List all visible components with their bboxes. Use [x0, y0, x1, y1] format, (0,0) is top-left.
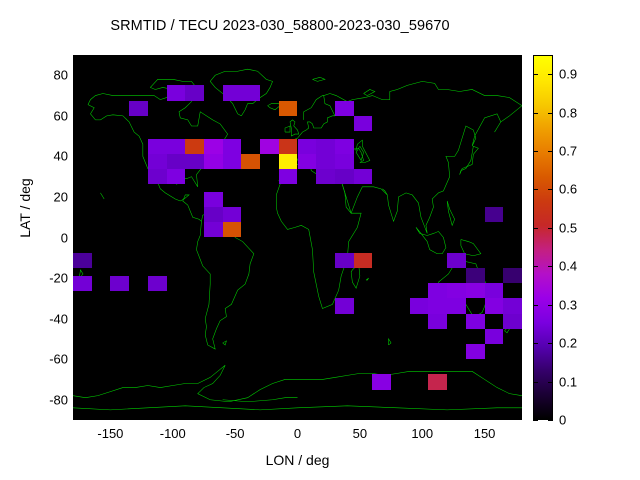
heatmap-cell — [279, 101, 298, 116]
heatmap-cell — [428, 298, 447, 313]
colorbar-tick-label: 0.5 — [559, 220, 577, 235]
x-tick-label: -150 — [80, 426, 140, 441]
heatmap-cell — [279, 169, 298, 184]
colorbar-tick-label: 0.6 — [559, 182, 577, 197]
colorbar-tick-mark — [548, 228, 553, 229]
colorbar-tick-mark — [533, 228, 538, 229]
heatmap-cell — [410, 298, 429, 313]
colorbar-tick-mark — [548, 343, 553, 344]
colorbar-tick-mark — [548, 113, 553, 114]
heatmap-cell — [167, 169, 186, 184]
y-tick-label: 0 — [28, 230, 68, 245]
colorbar-tick-mark — [548, 74, 553, 75]
heatmap-cell — [204, 139, 223, 154]
colorbar-ticks: 0.90.80.70.60.50.40.30.20.10 — [533, 55, 633, 420]
heatmap-cell — [223, 222, 242, 237]
heatmap-cell — [204, 154, 223, 169]
heatmap-cell — [503, 298, 522, 313]
colorbar-tick-mark — [533, 113, 538, 114]
heatmap-cell — [223, 85, 242, 100]
heatmap-cell — [167, 85, 186, 100]
heatmap-cell — [298, 154, 317, 169]
y-tick-label: 60 — [28, 108, 68, 123]
chart-title: SRMTID / TECU 2023-030_58800-2023-030_59… — [0, 18, 560, 34]
heatmap-cell — [428, 374, 447, 389]
colorbar-tick-mark — [548, 151, 553, 152]
colorbar-tick-mark — [533, 74, 538, 75]
heatmap-cell — [503, 268, 522, 283]
colorbar-tick-label: 0.4 — [559, 259, 577, 274]
heatmap-cell — [485, 207, 504, 222]
heatmap-cell — [279, 139, 298, 154]
colorbar-tick-label: 0.1 — [559, 374, 577, 389]
heatmap-cell — [503, 314, 522, 329]
heatmap-cell — [485, 283, 504, 298]
heatmap-cell — [316, 139, 335, 154]
heatmap-cells-layer — [73, 55, 522, 420]
colorbar-tick-label: 0.9 — [559, 67, 577, 82]
x-tick-label: 100 — [392, 426, 452, 441]
heatmap-cell — [466, 283, 485, 298]
heatmap-cell — [466, 344, 485, 359]
heatmap-cell — [316, 154, 335, 169]
heatmap-cell — [223, 154, 242, 169]
colorbar-tick-mark — [548, 189, 553, 190]
y-tick-label: -60 — [28, 352, 68, 367]
heatmap-cell — [466, 268, 485, 283]
heatmap-cell — [447, 253, 466, 268]
heatmap-cell — [335, 169, 354, 184]
heatmap-cell — [260, 139, 279, 154]
heatmap-cell — [167, 154, 186, 169]
heatmap-cell — [148, 139, 167, 154]
heatmap-cell — [185, 85, 204, 100]
map-plot-area — [73, 55, 522, 420]
y-tick-label: -40 — [28, 311, 68, 326]
heatmap-cell — [354, 169, 373, 184]
heatmap-cell — [185, 154, 204, 169]
heatmap-cell — [241, 85, 260, 100]
heatmap-cell — [167, 139, 186, 154]
heatmap-cell — [428, 314, 447, 329]
y-axis-label: LAT / deg — [17, 128, 33, 288]
heatmap-cell — [204, 192, 223, 207]
colorbar-tick-mark — [533, 420, 538, 421]
heatmap-cell — [298, 139, 317, 154]
heatmap-cell — [223, 207, 242, 222]
heatmap-cell — [316, 169, 335, 184]
colorbar-tick-mark — [533, 151, 538, 152]
colorbar-tick-mark — [548, 305, 553, 306]
colorbar-tick-mark — [548, 420, 553, 421]
heatmap-cell — [485, 298, 504, 313]
colorbar-tick-label: 0 — [559, 413, 566, 428]
heatmap-cell — [447, 298, 466, 313]
heatmap-cell — [73, 276, 92, 291]
heatmap-cell — [466, 314, 485, 329]
plot-figure: SRMTID / TECU 2023-030_58800-2023-030_59… — [0, 0, 640, 480]
x-tick-label: -50 — [205, 426, 265, 441]
colorbar-tick-label: 0.8 — [559, 105, 577, 120]
heatmap-cell — [148, 169, 167, 184]
heatmap-cell — [148, 276, 167, 291]
y-tick-label: 40 — [28, 149, 68, 164]
y-tick-label: -80 — [28, 392, 68, 407]
heatmap-cell — [129, 101, 148, 116]
heatmap-cell — [485, 329, 504, 344]
x-tick-label: -100 — [143, 426, 203, 441]
y-tick-label: -20 — [28, 271, 68, 286]
colorbar-tick-label: 0.3 — [559, 297, 577, 312]
heatmap-cell — [354, 253, 373, 268]
heatmap-cell — [185, 139, 204, 154]
heatmap-cell — [279, 154, 298, 169]
colorbar-tick-mark — [548, 382, 553, 383]
colorbar-tick-mark — [533, 305, 538, 306]
heatmap-cell — [447, 283, 466, 298]
colorbar-tick-mark — [533, 266, 538, 267]
x-axis-ticks: -150-100-50050100150 — [73, 426, 522, 446]
heatmap-cell — [335, 298, 354, 313]
x-tick-label: 150 — [455, 426, 515, 441]
colorbar-tick-label: 0.7 — [559, 144, 577, 159]
heatmap-cell — [335, 154, 354, 169]
heatmap-cell — [204, 222, 223, 237]
y-tick-label: 20 — [28, 189, 68, 204]
x-axis-label: LON / deg — [73, 452, 522, 468]
heatmap-cell — [241, 154, 260, 169]
heatmap-cell — [335, 139, 354, 154]
heatmap-cell — [428, 283, 447, 298]
colorbar-tick-mark — [533, 343, 538, 344]
colorbar-tick-mark — [533, 382, 538, 383]
heatmap-cell — [335, 101, 354, 116]
heatmap-cell — [110, 276, 129, 291]
heatmap-cell — [354, 116, 373, 131]
colorbar-tick-mark — [533, 189, 538, 190]
heatmap-cell — [372, 374, 391, 389]
heatmap-cell — [223, 139, 242, 154]
colorbar-tick-mark — [548, 266, 553, 267]
heatmap-cell — [73, 253, 92, 268]
colorbar-tick-label: 0.2 — [559, 336, 577, 351]
y-tick-label: 80 — [28, 68, 68, 83]
heatmap-cell — [148, 154, 167, 169]
x-tick-label: 50 — [330, 426, 390, 441]
x-tick-label: 0 — [268, 426, 328, 441]
heatmap-cell — [335, 253, 354, 268]
heatmap-cell — [204, 207, 223, 222]
